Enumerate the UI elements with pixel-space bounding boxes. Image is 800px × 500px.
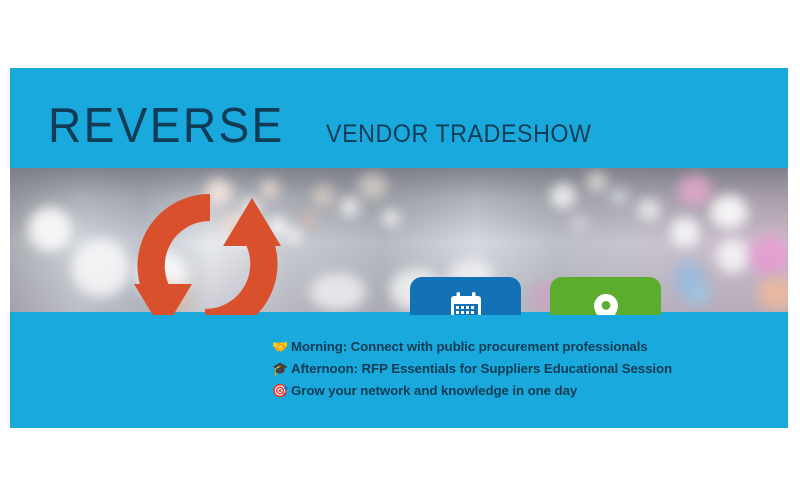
bullet-text: Morning: Connect with public procurement… (291, 337, 648, 356)
tradeshow-photo-band: October 29, 2025 9:15am - 4:00pm Pearson… (10, 165, 788, 315)
poster-title: REVERSE VENDOR TRADESHOW (48, 102, 611, 151)
list-item: 🎯 Grow your network and knowledge in one… (272, 381, 672, 400)
header-band: REVERSE VENDOR TRADESHOW (10, 68, 788, 165)
dart-target-emoji-icon: 🎯 (272, 381, 291, 400)
title-main: REVERSE (48, 102, 285, 151)
bottom-band: 🤝 Morning: Connect with public procureme… (10, 315, 788, 428)
list-item: 🤝 Morning: Connect with public procureme… (272, 337, 672, 356)
map-pin-icon (593, 293, 619, 315)
handshake-emoji-icon: 🤝 (272, 337, 291, 356)
reverse-cycle-arrows-icon (120, 180, 295, 315)
highlights-list: 🤝 Morning: Connect with public procureme… (272, 337, 672, 403)
graduation-cap-emoji-icon: 🎓 (272, 359, 291, 378)
date-card[interactable]: October 29, 2025 9:15am - 4:00pm (410, 277, 521, 315)
calendar-icon (449, 291, 483, 315)
bullet-text: Afternoon: RFP Essentials for Suppliers … (291, 359, 672, 378)
location-card[interactable]: Pearson Convention Centre (550, 277, 661, 315)
title-subtitle: VENDOR TRADESHOW (326, 122, 592, 147)
bullet-text: Grow your network and knowledge in one d… (291, 381, 577, 400)
list-item: 🎓 Afternoon: RFP Essentials for Supplier… (272, 359, 672, 378)
photo-top-edge (10, 165, 788, 168)
event-poster: REVERSE VENDOR TRADESHOW (10, 68, 788, 428)
